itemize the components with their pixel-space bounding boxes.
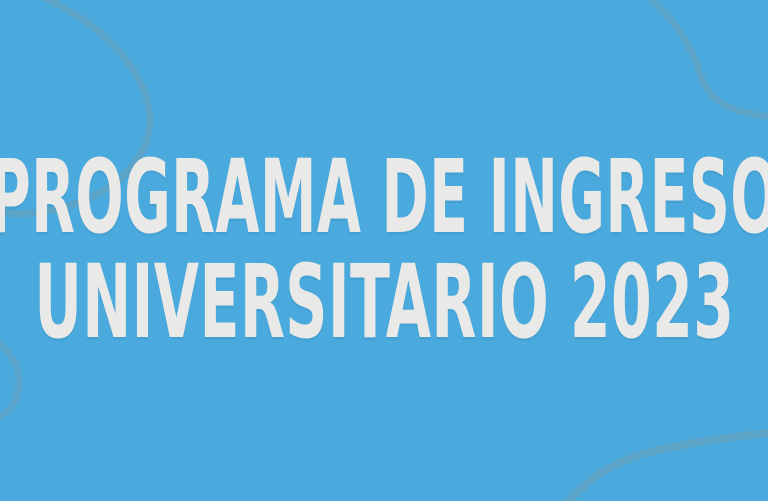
promotional-banner: PROGRAMA DE INGRESO UNIVERSITARIO 2023: [0, 0, 768, 501]
page-title-line-2: UNIVERSITARIO 2023: [34, 254, 734, 350]
headline-block: PROGRAMA DE INGRESO UNIVERSITARIO 2023: [0, 0, 768, 501]
page-title-line-1: PROGRAMA DE INGRESO: [0, 150, 768, 246]
